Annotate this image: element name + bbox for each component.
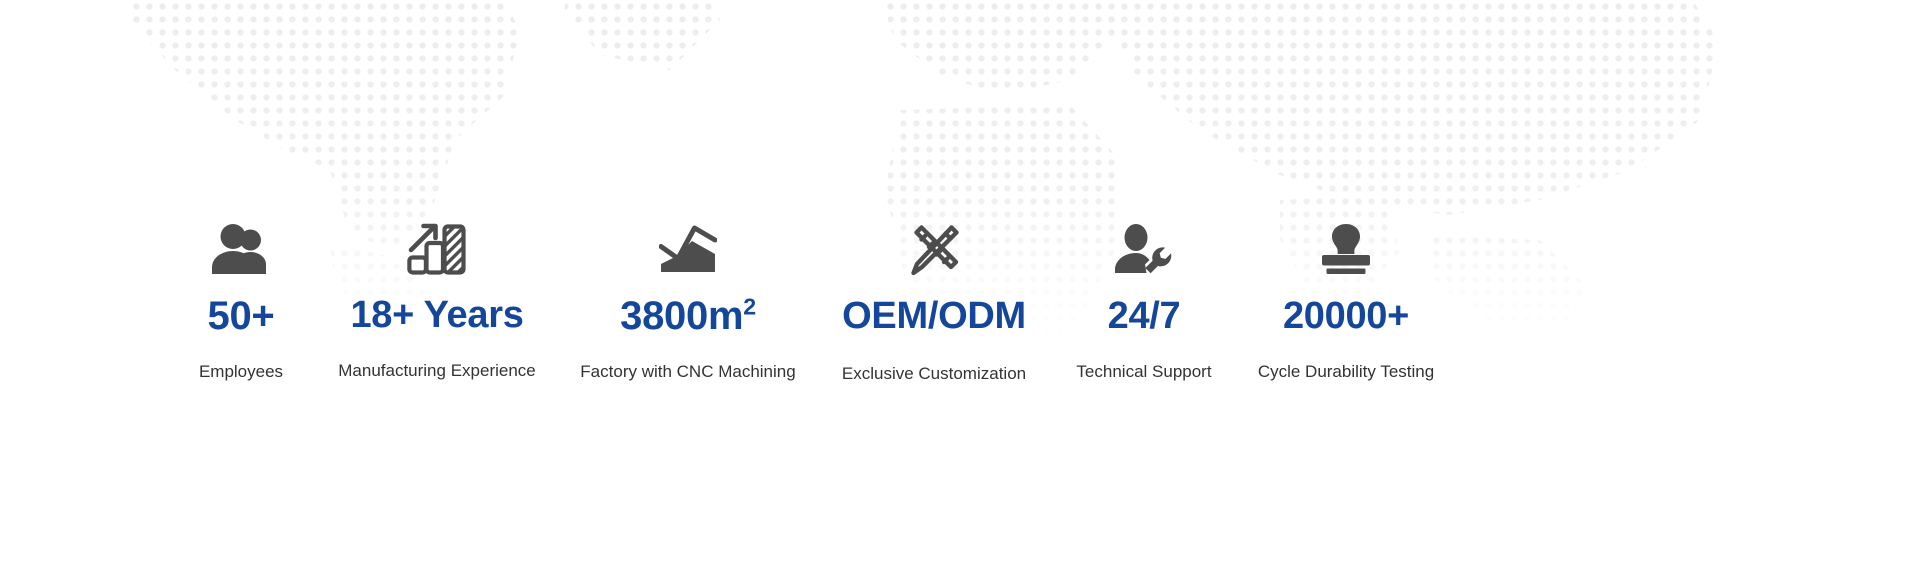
stat-value-text: OEM/ODM xyxy=(842,295,1026,337)
stat-label-technical-support: Technical Support xyxy=(1076,362,1211,382)
stat-value-text: 24/7 xyxy=(1108,295,1181,337)
support-person-wrench-icon xyxy=(1115,224,1173,274)
stat-value-factory-area: 3800m2 xyxy=(620,296,756,336)
stat-label-factory-area: Factory with CNC Machining xyxy=(580,362,795,382)
stat-label-cycle-durability-testing: Cycle Durability Testing xyxy=(1258,362,1434,382)
area-chart-icon xyxy=(659,224,717,274)
stat-value-text: 50+ xyxy=(208,294,275,338)
pencil-ruler-icon xyxy=(905,221,963,277)
company-stats-section: 50+ Employees xyxy=(0,0,1920,577)
stat-value-employees: 50+ xyxy=(208,296,275,336)
stat-value-text: 20000+ xyxy=(1283,295,1409,337)
stat-value-text: 3800m xyxy=(620,294,743,338)
bar-chart-growth-icon xyxy=(407,222,467,276)
stat-label-exclusive-customization: Exclusive Customization xyxy=(842,364,1026,384)
stat-label-employees: Employees xyxy=(199,362,283,382)
people-icon xyxy=(210,224,272,276)
stat-value-cycle-durability-testing: 20000+ xyxy=(1283,297,1409,335)
stats-row: 50+ Employees xyxy=(0,0,1920,577)
stat-value-text: 18+ Years xyxy=(350,294,523,336)
stat-label-manufacturing-experience: Manufacturing Experience xyxy=(338,361,536,381)
stat-value-exclusive-customization: OEM/ODM xyxy=(842,297,1026,335)
stat-value-manufacturing-experience: 18+ Years xyxy=(350,296,523,334)
stat-value-superscript: 2 xyxy=(743,294,756,320)
stat-value-technical-support: 24/7 xyxy=(1108,297,1181,335)
stamp-icon xyxy=(1319,222,1373,276)
